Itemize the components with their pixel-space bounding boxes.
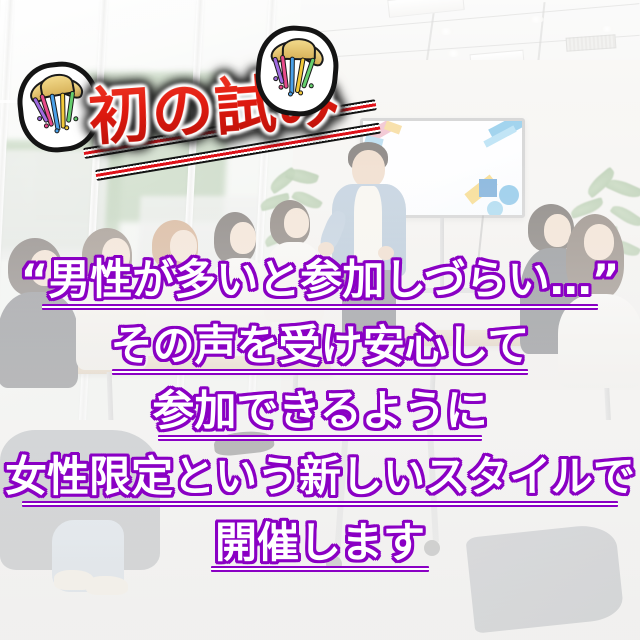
message-underline xyxy=(211,566,429,572)
message-line-text: 参加できるように xyxy=(152,389,487,433)
message-line: 開催します xyxy=(211,521,429,573)
message-underline xyxy=(22,501,618,507)
poster-root: 初の試み “男性が多いと参加しづらい…” その声を受け安心して xyxy=(0,0,640,640)
message-line: その声を受け安心して xyxy=(111,324,530,376)
title-badge: 初の試み xyxy=(22,38,352,148)
message-line-text: その声を受け安心して xyxy=(111,324,530,368)
confetti-popper-icon xyxy=(263,33,331,108)
message-line-text: “男性が多いと参加しづらい…” xyxy=(21,258,620,302)
message-underline xyxy=(112,369,528,375)
message-line-text: 開催します xyxy=(215,521,425,565)
message-underline xyxy=(158,435,482,441)
message-underline xyxy=(42,304,598,310)
message-line: “男性が多いと参加しづらい…” xyxy=(21,258,620,310)
message-line: 参加できるように xyxy=(152,389,487,441)
message-line: 女性限定という新しいスタイルで xyxy=(5,455,635,507)
message-line-text: 女性限定という新しいスタイルで xyxy=(5,455,635,499)
confetti-popper-icon xyxy=(25,69,94,145)
message-block: “男性が多いと参加しづらい…” その声を受け安心して 参加できるように 女性限定… xyxy=(0,258,640,572)
